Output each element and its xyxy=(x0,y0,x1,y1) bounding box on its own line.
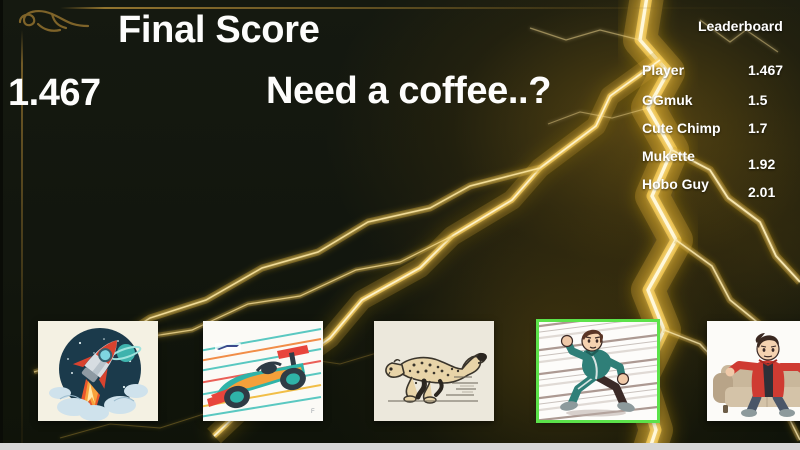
tier-card-rocket[interactable] xyxy=(38,321,158,421)
tier-card-strip: F xyxy=(0,0,800,450)
tier-card-couch-sitter[interactable] xyxy=(707,321,800,421)
tier-card-race-car[interactable]: F xyxy=(203,321,323,421)
tier-card-running-man[interactable] xyxy=(538,321,658,421)
tier-card-cheetah[interactable] xyxy=(374,321,494,421)
svg-text:F: F xyxy=(311,409,315,415)
cheetah-icon xyxy=(374,321,494,421)
window-bottom-bar xyxy=(0,443,800,450)
game-result-screen: Final Score 1.467 Need a coffee..? Leade… xyxy=(0,0,800,450)
couch-sitter-icon xyxy=(707,321,800,421)
running-man-icon xyxy=(538,321,658,421)
race-car-icon: F xyxy=(203,321,323,421)
rocket-icon xyxy=(38,321,158,421)
